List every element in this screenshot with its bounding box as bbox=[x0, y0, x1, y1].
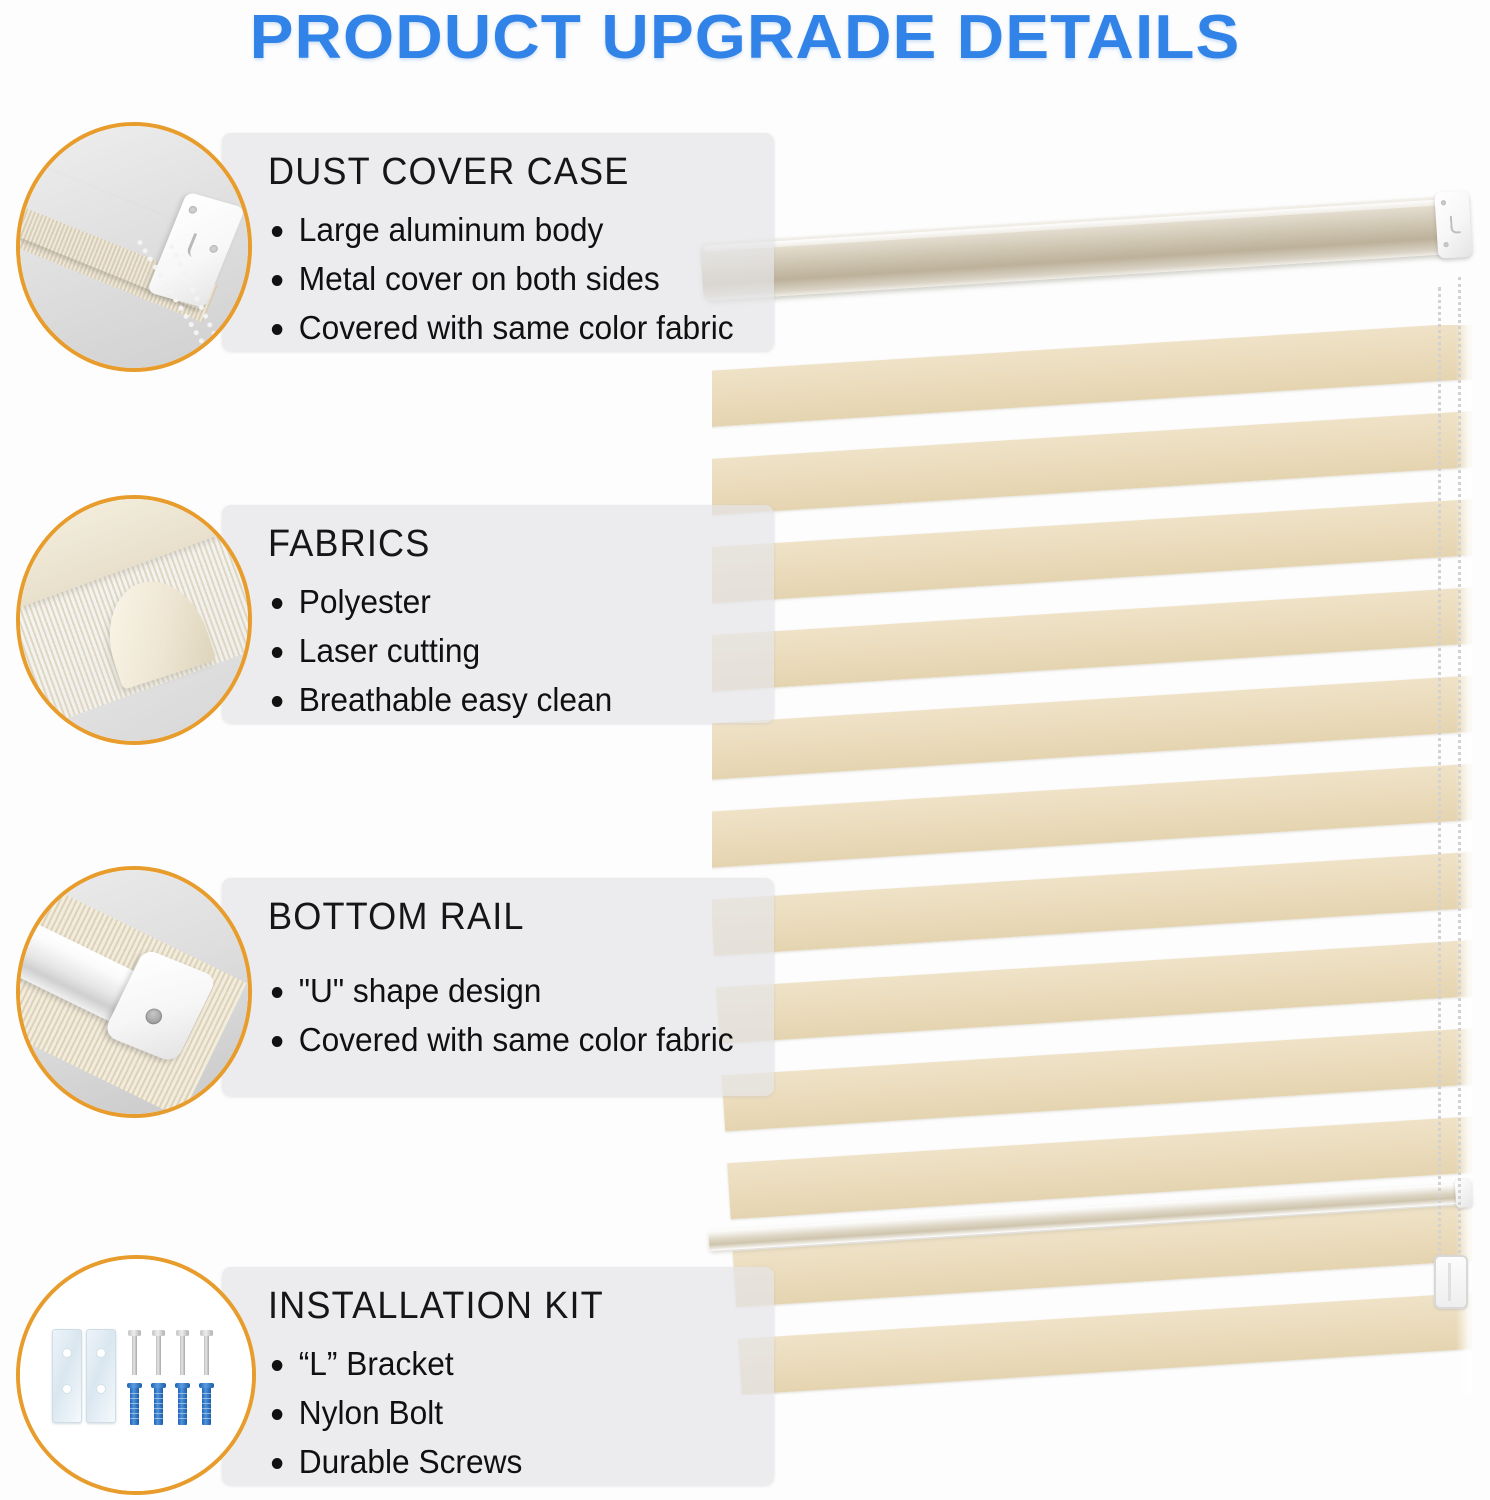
headrail-cassette bbox=[700, 194, 1482, 303]
screw-icon bbox=[204, 1335, 209, 1375]
screw-icon bbox=[132, 1335, 137, 1375]
l-bracket-icon bbox=[86, 1329, 116, 1423]
fabric-stripe bbox=[712, 846, 1472, 956]
endcap-screw bbox=[143, 1006, 165, 1026]
l-bracket-icon bbox=[52, 1329, 82, 1423]
fabric-stripe bbox=[738, 1285, 1472, 1395]
bottom-rail-endcap bbox=[1455, 1179, 1473, 1208]
fabric-stripe bbox=[712, 407, 1472, 517]
feature-bullet: "U" shape design bbox=[268, 966, 734, 1015]
feature-bullet: Covered with same color fabric bbox=[268, 303, 734, 352]
fabric-stripe bbox=[722, 1021, 1472, 1131]
endcap-screw bbox=[208, 244, 219, 254]
feature-bullet-list: "U" shape design Covered with same color… bbox=[268, 966, 753, 1064]
infographic-page: PRODUCT UPGRADE DETAILS bbox=[0, 0, 1490, 1500]
fabric-stripe bbox=[712, 758, 1472, 868]
fabric-stripe bbox=[712, 582, 1472, 692]
endcap-screw bbox=[187, 205, 198, 215]
screw-icon bbox=[156, 1335, 161, 1375]
feature-bullet: Durable Screws bbox=[268, 1437, 522, 1486]
feature-panel-dust-cover-case: DUST COVER CASE Large aluminum body Meta… bbox=[222, 133, 774, 351]
endcap-screw bbox=[1441, 200, 1446, 205]
feature-panel-installation-kit: INSTALLATION KIT “L” Bracket Nylon Bolt … bbox=[222, 1267, 774, 1485]
hardware-group bbox=[52, 1329, 232, 1429]
feature-bullet-list: Polyester Laser cutting Breathable easy … bbox=[268, 577, 627, 724]
nylon-bolt-anchor-icon bbox=[130, 1387, 139, 1425]
page-title: PRODUCT UPGRADE DETAILS bbox=[0, 2, 1490, 73]
nylon-bolt-anchor-icon bbox=[202, 1387, 211, 1425]
feature-heading: BOTTOM RAIL bbox=[268, 896, 525, 939]
fabric-stripe bbox=[712, 670, 1472, 780]
feature-bullet: Metal cover on both sides bbox=[268, 254, 734, 303]
feature-bullet: Nylon Bolt bbox=[268, 1388, 522, 1437]
feature-bullet: Large aluminum body bbox=[268, 205, 734, 254]
dust-cover-case-photo bbox=[16, 122, 252, 372]
endcap-screw bbox=[1443, 242, 1448, 247]
feature-bullet: Breathable easy clean bbox=[268, 675, 612, 724]
screw-icon bbox=[180, 1335, 185, 1375]
nylon-bolt-anchor-icon bbox=[154, 1387, 163, 1425]
feature-heading: FABRICS bbox=[268, 523, 430, 566]
fabric-stripe bbox=[712, 325, 1472, 429]
feature-bullet: “L” Bracket bbox=[268, 1339, 522, 1388]
feature-bullet: Polyester bbox=[268, 577, 612, 626]
feature-bullet: Covered with same color fabric bbox=[268, 1015, 734, 1064]
feature-bullet-list: “L” Bracket Nylon Bolt Durable Screws bbox=[268, 1339, 533, 1486]
feature-heading: INSTALLATION KIT bbox=[268, 1285, 604, 1328]
fabric-closeup-photo bbox=[16, 495, 252, 745]
fabric-stripe bbox=[712, 494, 1472, 604]
nylon-bolt-anchor-icon bbox=[178, 1387, 187, 1425]
feature-panel-fabrics: FABRICS Polyester Laser cutting Breathab… bbox=[222, 505, 774, 723]
endcap-chain-hook-icon bbox=[1450, 215, 1461, 234]
feature-heading: DUST COVER CASE bbox=[268, 151, 629, 194]
feature-panel-bottom-rail: BOTTOM RAIL "U" shape design Covered wit… bbox=[222, 878, 774, 1096]
installation-kit-photo bbox=[16, 1255, 256, 1495]
feature-bullet: Laser cutting bbox=[268, 626, 612, 675]
feature-bullet-list: Large aluminum body Metal cover on both … bbox=[268, 205, 753, 352]
headrail-endcap bbox=[1434, 191, 1472, 259]
zebra-roller-blind-image bbox=[690, 215, 1490, 1325]
endcap-hook-icon bbox=[185, 233, 207, 259]
fabric-stripe bbox=[716, 934, 1472, 1044]
bottom-rail-photo bbox=[16, 866, 252, 1118]
